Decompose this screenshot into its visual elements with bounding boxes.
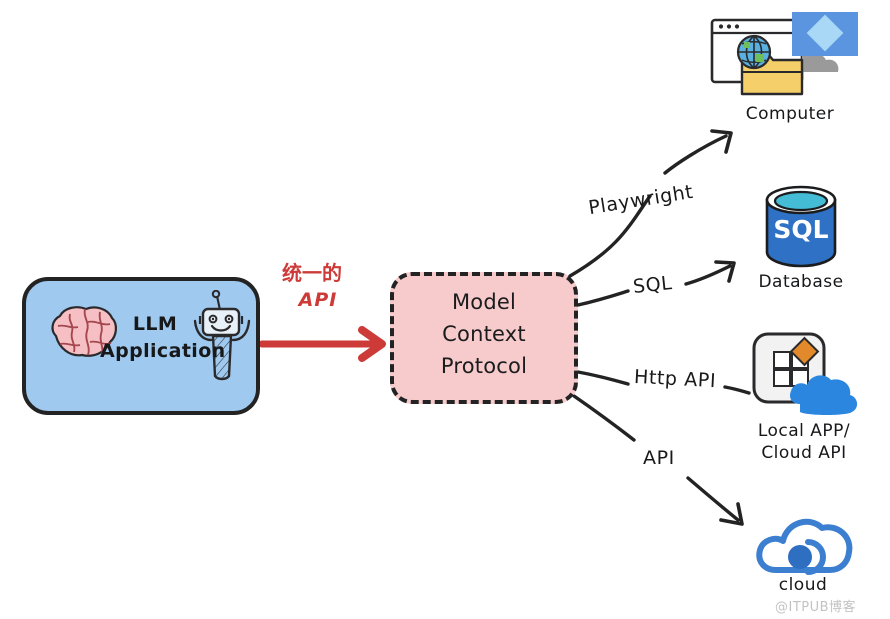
edge-label-api: API: [643, 447, 675, 469]
local-app-label-line2: Cloud API: [728, 443, 880, 465]
node-label-local-app-cloud-api: Local APP/ Cloud API: [728, 421, 880, 465]
llm-label-line2: Application: [100, 338, 210, 365]
mcp-label-line2: Context: [390, 318, 578, 350]
unified-api-arrow: [262, 330, 382, 358]
node-label-database: Database: [733, 272, 869, 294]
unified-api-label: 统一的 API: [262, 259, 362, 314]
edge-label-http-api: Http API: [633, 366, 716, 392]
computer-window-folder-icon[interactable]: [706, 6, 866, 102]
mcp-label-line1: Model: [390, 286, 578, 318]
unified-api-label-zh: 统一的: [282, 261, 342, 285]
node-mcp-label: Model Context Protocol: [390, 286, 578, 382]
cloud-node-icon[interactable]: [752, 504, 862, 576]
local-app-label-line1: Local APP/: [728, 421, 880, 443]
node-label-cloud: cloud: [742, 575, 864, 597]
node-llm-application-label: LLM Application: [100, 311, 210, 365]
database-badge-text: SQL: [773, 215, 828, 244]
llm-label-line1: LLM: [133, 313, 177, 335]
database-cylinder-icon[interactable]: SQL: [757, 182, 845, 270]
mcp-label-line3: Protocol: [390, 350, 578, 382]
unified-api-label-en: API: [262, 287, 362, 314]
edge-label-sql: SQL: [632, 272, 673, 298]
app-window-cloud-icon[interactable]: [750, 330, 866, 420]
node-label-computer: Computer: [720, 104, 860, 126]
watermark: @ITPUB博客: [775, 596, 856, 615]
